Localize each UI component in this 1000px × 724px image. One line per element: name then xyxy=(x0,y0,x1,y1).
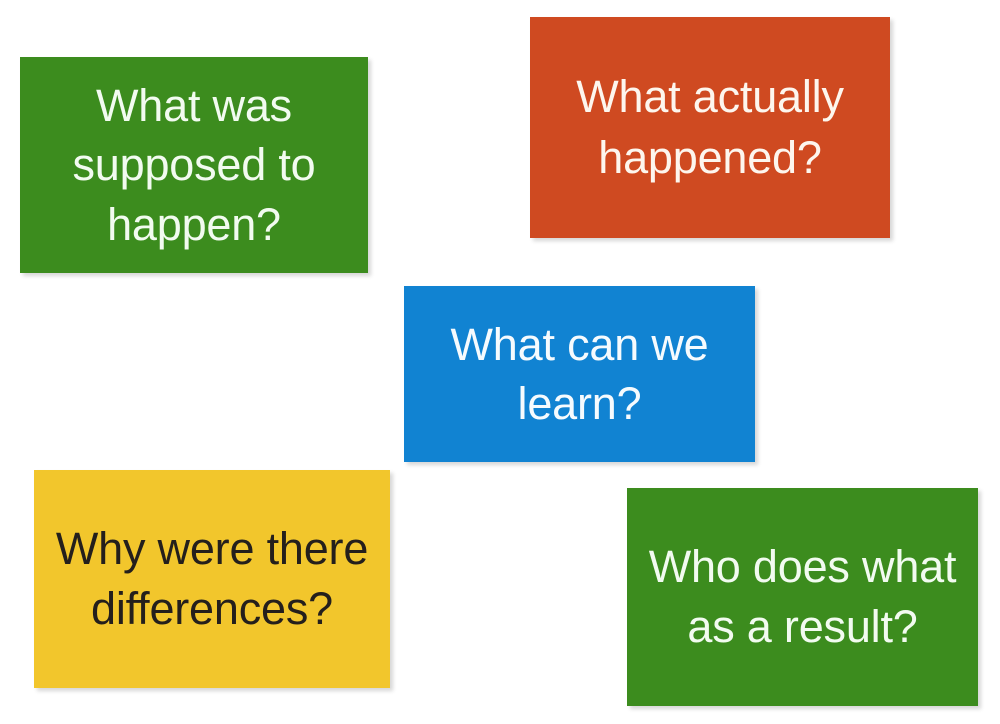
question-card-text: What can we learn? xyxy=(404,315,755,434)
question-card-why-differences[interactable]: Why were there differences? xyxy=(34,470,390,688)
slide-canvas: What was supposed to happen? What actual… xyxy=(0,0,1000,724)
question-card-text: What was supposed to happen? xyxy=(20,76,368,254)
question-card-what-can-we-learn[interactable]: What can we learn? xyxy=(404,286,755,462)
question-card-text: Why were there differences? xyxy=(34,519,390,640)
question-card-text: Who does what as a result? xyxy=(627,537,978,658)
question-card-supposed-to-happen[interactable]: What was supposed to happen? xyxy=(20,57,368,273)
question-card-text: What actually happened? xyxy=(530,67,890,188)
question-card-who-does-what[interactable]: Who does what as a result? xyxy=(627,488,978,706)
question-card-actually-happened[interactable]: What actually happened? xyxy=(530,17,890,238)
